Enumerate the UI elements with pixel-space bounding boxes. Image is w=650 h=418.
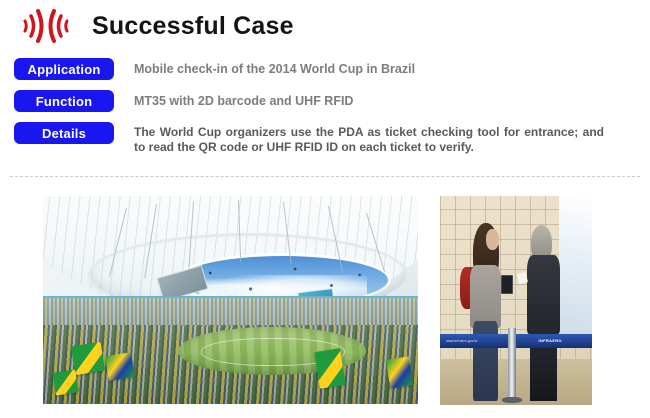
staff-body [527,255,560,334]
belt-stanchion-post [508,328,516,401]
brazil-flag [105,352,135,381]
section-divider [10,176,640,177]
rfid-wave-icon [14,6,78,46]
badge-details: Details [14,122,114,144]
belt-stanchion-base [502,397,522,403]
badge-function: Function [14,90,114,112]
brazil-flag [71,342,105,375]
traveler-body [470,265,500,328]
handheld-pda-device [501,275,514,294]
info-row-function: Function MT35 with 2D barcode and UHF RF… [0,90,650,112]
brazil-flag [53,369,79,395]
brazil-flag [314,348,346,389]
info-text-function: MT35 with 2D barcode and UHF RFID [134,90,353,112]
queue-belt-barrier: www.infraero.gov.br INFRAERO [440,334,592,348]
info-block: Application Mobile check-in of the 2014 … [0,58,650,165]
info-row-details: Details The World Cup organizers use the… [0,122,650,155]
photo-gallery: www.infraero.gov.br INFRAERO [0,196,650,408]
paper-ticket [517,272,528,284]
belt-logo-text: INFRAERO [539,338,562,343]
checkin-photo: www.infraero.gov.br INFRAERO [440,196,592,405]
info-row-application: Application Mobile check-in of the 2014 … [0,58,650,80]
checkin-window [559,196,592,334]
info-text-application: Mobile check-in of the 2014 World Cup in… [134,58,415,80]
badge-application: Application [14,58,114,80]
stadium-photo [43,196,418,404]
brazil-flag [386,357,413,389]
page-header: Successful Case [0,0,650,52]
info-text-details: The World Cup organizers use the PDA as … [134,122,604,155]
traveler-face [486,229,500,250]
page-title: Successful Case [92,14,294,39]
belt-url-text: www.infraero.gov.br [446,339,478,343]
